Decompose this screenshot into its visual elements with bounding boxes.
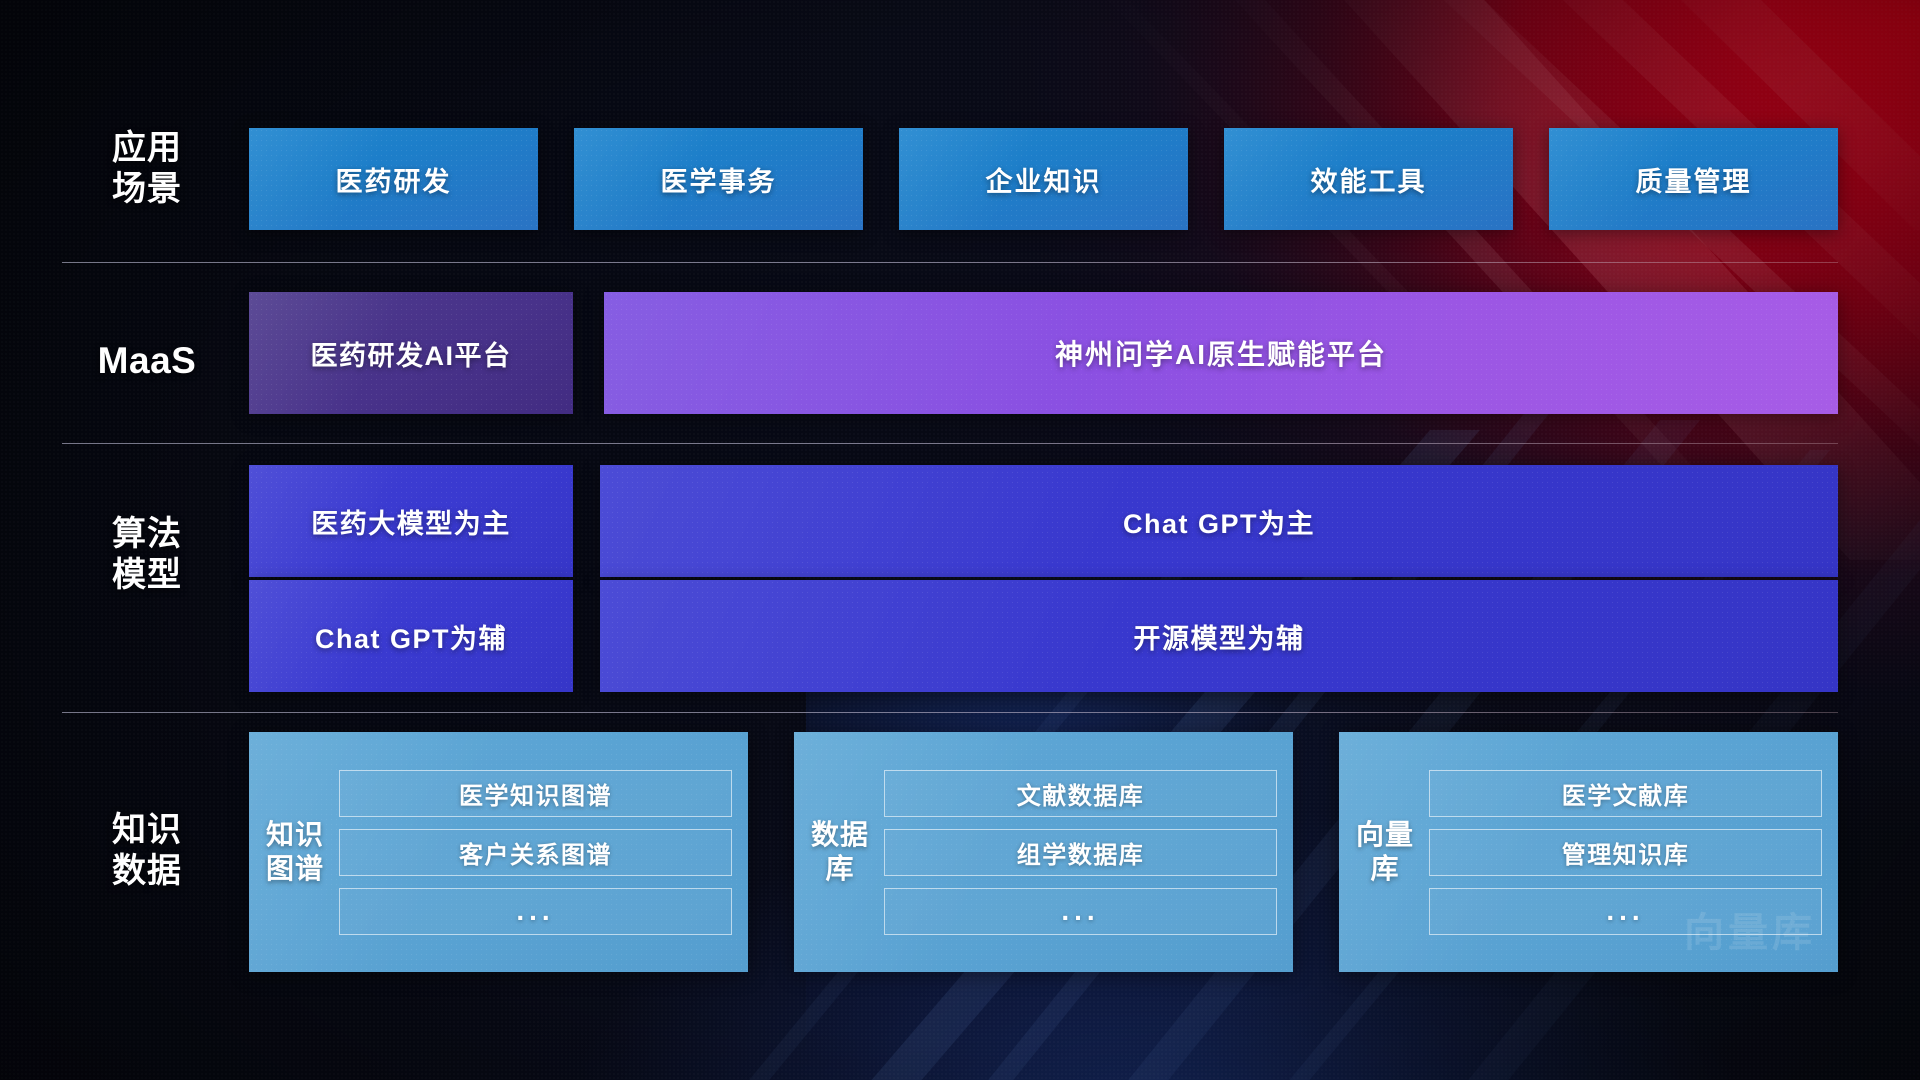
app-box-efficiency-tools[interactable]: 效能工具 — [1224, 128, 1513, 230]
tier-label-text: MaaS — [62, 338, 232, 383]
algo-box-chatgpt-secondary[interactable]: Chat GPT为辅 — [249, 580, 573, 692]
knowledge-group-knowledge-graph[interactable]: 知识图谱 医学知识图谱 客户关系图谱 ... — [249, 732, 748, 972]
app-box-label: 效能工具 — [1311, 160, 1427, 199]
tier-label-line-2: 场景 — [62, 169, 232, 210]
divider-after-application-scenarios — [62, 262, 1838, 263]
tier-label-application-scenarios: 应用 场景 — [62, 128, 232, 211]
divider-after-maas — [62, 443, 1838, 444]
knowledge-group-title: 向量库 — [1353, 818, 1417, 886]
tier-label-knowledge-data: 知识 数据 — [62, 810, 232, 893]
maas-box-medicine-rd-ai-platform[interactable]: 医药研发AI平台 — [249, 292, 573, 414]
tier-label-algorithm-models: 算法 模型 — [62, 514, 232, 597]
tier-label-line-1: 知识 — [62, 810, 232, 851]
knowledge-group-title: 数据库 — [808, 818, 872, 886]
algo-box-label: Chat GPT为主 — [1123, 502, 1315, 541]
knowledge-item[interactable]: 文献数据库 — [884, 770, 1277, 817]
maas-box-label: 神州问学AI原生赋能平台 — [1055, 333, 1387, 373]
knowledge-item-more[interactable]: ... — [884, 888, 1277, 935]
tier-label-maas: MaaS — [62, 338, 232, 383]
knowledge-item[interactable]: 医学文献库 — [1429, 770, 1822, 817]
knowledge-item-list: 医学知识图谱 客户关系图谱 ... — [339, 770, 732, 935]
app-box-label: 质量管理 — [1636, 160, 1752, 199]
knowledge-item[interactable]: 医学知识图谱 — [339, 770, 732, 817]
app-box-label: 医药研发 — [336, 160, 452, 199]
tier-label-line-1: 算法 — [62, 514, 232, 555]
algo-box-opensource-model-secondary[interactable]: 开源模型为辅 — [600, 580, 1838, 692]
knowledge-group-vector-database[interactable]: 向量库 向量库 医学文献库 管理知识库 ... — [1339, 732, 1838, 972]
app-box-enterprise-knowledge[interactable]: 企业知识 — [899, 128, 1188, 230]
tier-label-line-1: 应用 — [62, 128, 232, 169]
tier-label-line-2: 数据 — [62, 851, 232, 892]
knowledge-item[interactable]: 管理知识库 — [1429, 829, 1822, 876]
maas-box-label: 医药研发AI平台 — [311, 334, 512, 373]
algo-box-label: Chat GPT为辅 — [315, 617, 507, 656]
knowledge-item-list: 医学文献库 管理知识库 ... — [1429, 770, 1822, 935]
divider-after-algorithm-models — [62, 712, 1838, 713]
algo-box-label: 开源模型为辅 — [1134, 617, 1305, 656]
knowledge-item-more[interactable]: ... — [1429, 888, 1822, 935]
knowledge-group-title: 知识图谱 — [263, 818, 327, 886]
app-box-label: 医学事务 — [661, 160, 777, 199]
knowledge-item[interactable]: 客户关系图谱 — [339, 829, 732, 876]
algo-box-medicine-large-model-primary[interactable]: 医药大模型为主 — [249, 465, 573, 577]
app-box-medical-affairs[interactable]: 医学事务 — [574, 128, 863, 230]
tier-label-line-2: 模型 — [62, 555, 232, 596]
maas-box-shenzhou-wenxue-platform[interactable]: 神州问学AI原生赋能平台 — [604, 292, 1838, 414]
knowledge-item[interactable]: 组学数据库 — [884, 829, 1277, 876]
knowledge-item-list: 文献数据库 组学数据库 ... — [884, 770, 1277, 935]
knowledge-item-more[interactable]: ... — [339, 888, 732, 935]
knowledge-group-database[interactable]: 数据库 文献数据库 组学数据库 ... — [794, 732, 1293, 972]
architecture-diagram: 应用 场景 医药研发 医学事务 企业知识 效能工具 质量管理 MaaS 医药研发… — [0, 0, 1920, 1080]
app-box-quality-management[interactable]: 质量管理 — [1549, 128, 1838, 230]
app-box-label: 企业知识 — [986, 160, 1102, 199]
app-box-medicine-rd[interactable]: 医药研发 — [249, 128, 538, 230]
algo-box-chatgpt-primary[interactable]: Chat GPT为主 — [600, 465, 1838, 577]
algo-box-label: 医药大模型为主 — [311, 502, 511, 541]
